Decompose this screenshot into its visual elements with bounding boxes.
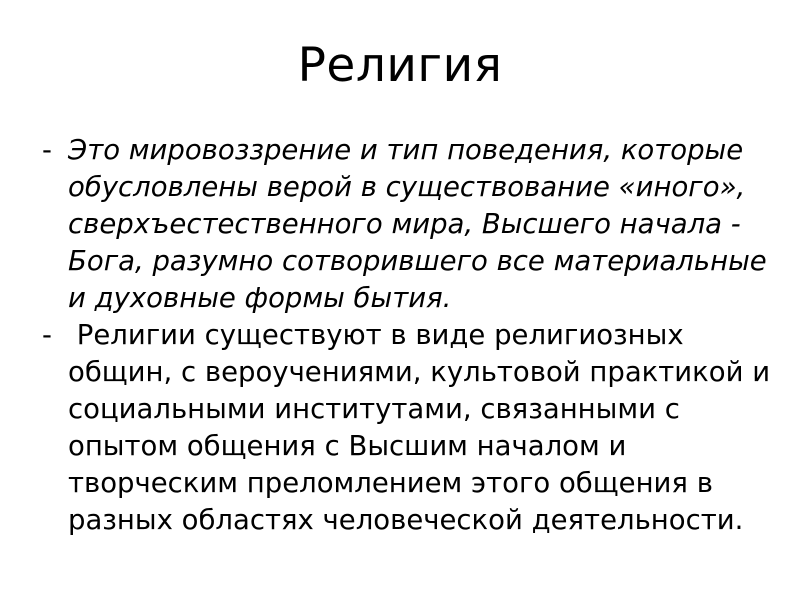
- slide-body: - Это мировоззрение и тип поведения, кот…: [36, 132, 780, 539]
- list-item-text: Это мировоззрение и тип поведения, котор…: [68, 132, 780, 317]
- bullet-marker-icon: -: [42, 132, 52, 169]
- list-item: - Религии существуют в виде религиозных …: [36, 317, 780, 539]
- list-item-text: Религии существуют в виде религиозных об…: [68, 317, 780, 539]
- bullet-marker-icon: -: [42, 317, 52, 354]
- presentation-slide: Религия - Это мировоззрение и тип поведе…: [0, 0, 800, 600]
- page-title: Религия: [0, 38, 800, 94]
- list-item: - Это мировоззрение и тип поведения, кот…: [36, 132, 780, 317]
